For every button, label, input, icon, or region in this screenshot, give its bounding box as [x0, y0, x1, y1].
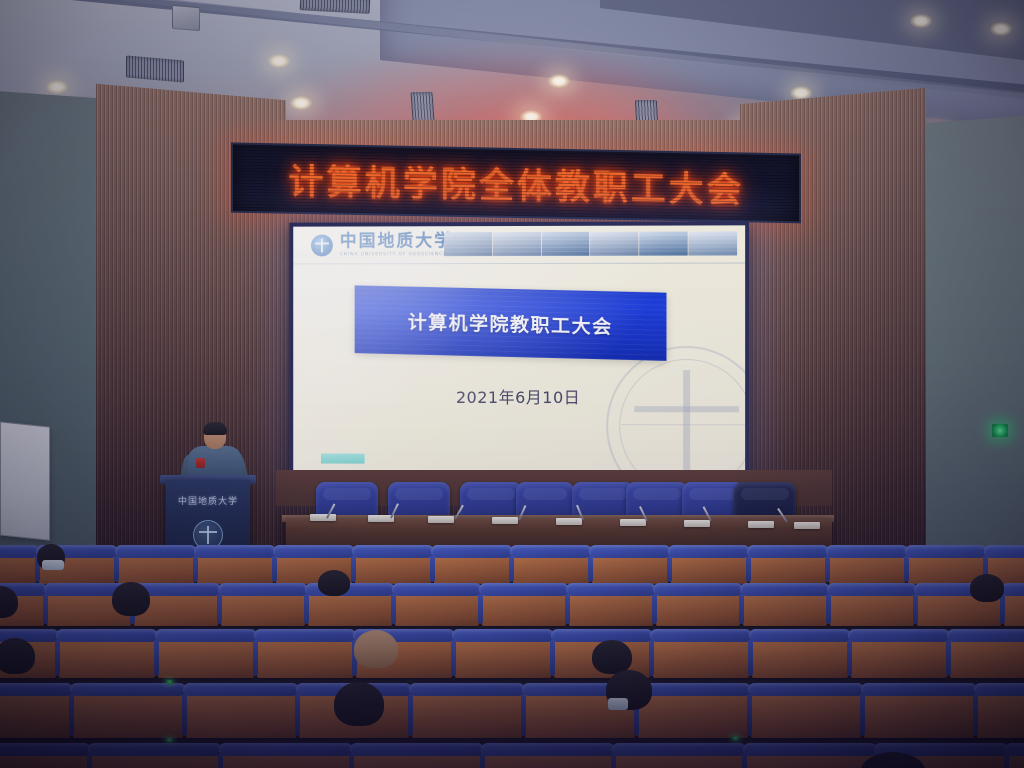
seat	[830, 592, 914, 626]
audience-seating	[0, 540, 1024, 768]
name-plate	[620, 519, 646, 526]
seat	[482, 592, 566, 626]
seat	[829, 554, 905, 584]
seat	[91, 752, 219, 768]
attendee	[334, 682, 384, 726]
university-emblem-watermark	[606, 346, 745, 479]
name-plate	[310, 514, 336, 521]
ceiling-downlight-icon	[290, 96, 312, 110]
name-plate	[492, 517, 518, 524]
attendee	[318, 570, 350, 596]
aisle-indicator-light	[166, 738, 173, 742]
wall-panel-right	[912, 116, 1024, 564]
name-plate	[794, 522, 820, 529]
university-name-cn: 中国地质大学	[340, 233, 453, 250]
aisle-indicator-light	[166, 680, 173, 684]
seat	[353, 752, 481, 768]
slide-title-text: 计算机学院教职工大会	[408, 307, 613, 339]
speaker-badge	[196, 458, 205, 468]
seat-row	[0, 638, 1024, 678]
seat	[750, 554, 826, 584]
whiteboard	[0, 421, 50, 540]
seat	[950, 638, 1024, 678]
seat	[569, 592, 653, 626]
slide-title-box: 计算机学院教职工大会	[355, 285, 667, 360]
seat	[671, 554, 747, 584]
seat	[257, 638, 353, 678]
podium-label: 中国地质大学	[166, 494, 250, 507]
seat-row	[0, 592, 1024, 626]
seat	[752, 638, 848, 678]
seat	[615, 752, 743, 768]
seat	[751, 692, 861, 738]
seat	[656, 592, 740, 626]
presentation-slide: 中国地质大学 CHINA UNIVERSITY OF GEOSCIENCES 计…	[293, 225, 745, 478]
seat	[0, 692, 70, 738]
attendee	[592, 640, 632, 674]
seat	[455, 638, 551, 678]
seat	[412, 692, 522, 738]
ceiling-downlight-icon	[990, 22, 1012, 36]
seat	[977, 692, 1024, 738]
ceiling-downlight-icon	[268, 54, 290, 68]
slide-accent-tag	[321, 454, 365, 464]
seat	[59, 638, 155, 678]
seat	[484, 752, 612, 768]
university-name-block: 中国地质大学 CHINA UNIVERSITY OF GEOSCIENCES	[340, 233, 453, 258]
seat	[592, 554, 668, 584]
seat	[222, 752, 350, 768]
face-mask	[608, 698, 628, 710]
university-name-en: CHINA UNIVERSITY OF GEOSCIENCES	[340, 253, 453, 257]
ceiling-downlight-icon	[548, 74, 570, 88]
auditorium-photo: 计算机学院全体教职工大会 中国地质大学 CHINA UNIVERSITY OF …	[0, 0, 1024, 768]
seat	[638, 692, 748, 738]
seat	[864, 692, 974, 738]
seat	[186, 692, 296, 738]
face-mask	[42, 560, 64, 570]
seat	[746, 752, 874, 768]
name-plate	[684, 520, 710, 527]
slide-header: 中国地质大学 CHINA UNIVERSITY OF GEOSCIENCES	[293, 225, 745, 264]
seat	[0, 752, 88, 768]
attendee	[0, 638, 35, 674]
name-plate	[556, 518, 582, 525]
seat	[653, 638, 749, 678]
watermark-text	[608, 348, 745, 479]
seat	[1008, 752, 1024, 768]
seat	[851, 638, 947, 678]
led-banner: 计算机学院全体教职工大会	[231, 142, 801, 223]
seat	[513, 554, 589, 584]
seat	[118, 554, 194, 584]
aisle-indicator-light	[732, 736, 739, 740]
seat	[743, 592, 827, 626]
ceiling-downlight-icon	[46, 80, 68, 94]
seat	[158, 638, 254, 678]
slide-date: 2021年6月10日	[293, 384, 745, 408]
led-banner-text: 计算机学院全体教职工大会	[288, 153, 744, 213]
attendee	[970, 574, 1004, 602]
seat	[308, 592, 392, 626]
air-vent-icon	[126, 55, 184, 82]
ceiling-speaker-box	[172, 5, 200, 31]
attendee	[354, 630, 398, 668]
seat	[395, 592, 479, 626]
seat	[355, 554, 431, 584]
name-plate	[428, 516, 454, 523]
air-vent-icon	[300, 0, 371, 14]
seat-row	[0, 692, 1024, 738]
attendee	[112, 582, 150, 616]
campus-photo-strip	[444, 231, 737, 256]
projection-screen: 中国地质大学 CHINA UNIVERSITY OF GEOSCIENCES 计…	[289, 221, 749, 482]
seat	[1004, 592, 1024, 626]
ceiling-downlight-icon	[910, 14, 932, 28]
seat	[197, 554, 273, 584]
emergency-exit-icon	[992, 424, 1008, 437]
seat	[434, 554, 510, 584]
seat-row	[0, 554, 1024, 584]
seat	[0, 554, 36, 584]
university-logo-icon	[311, 235, 333, 257]
seat	[221, 592, 305, 626]
name-plate	[748, 521, 774, 528]
seat	[73, 692, 183, 738]
